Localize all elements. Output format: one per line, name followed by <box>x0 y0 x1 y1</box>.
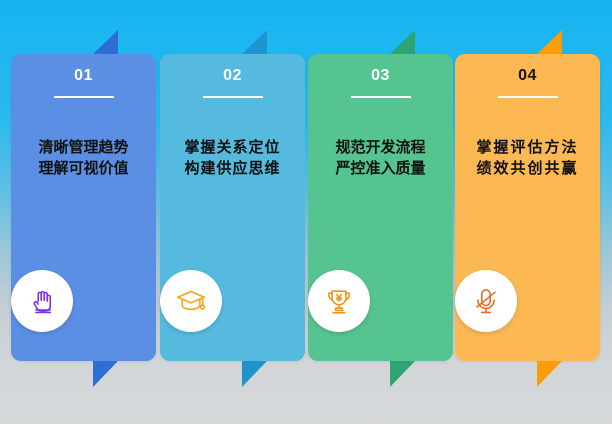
icon-bubble-03[interactable] <box>308 270 370 332</box>
card-number: 02 <box>160 68 305 84</box>
icon-bubble-01[interactable] <box>11 270 73 332</box>
ribbon-top-icon <box>242 30 267 54</box>
card-body: 清晰管理趋势 理解可视价值 <box>11 138 156 179</box>
card-divider <box>54 96 114 98</box>
card-number: 01 <box>11 68 156 84</box>
card-body-line-2: 严控准入质量 <box>308 159 453 180</box>
card-divider <box>498 96 558 98</box>
card-number: 04 <box>455 68 600 84</box>
card-body-line-1: 清晰管理趋势 <box>11 138 156 159</box>
card-body-line-1: 规范开发流程 <box>308 138 453 159</box>
card-body: 掌握关系定位 构建供应思维 <box>160 138 305 179</box>
ribbon-bottom-icon <box>390 361 415 387</box>
card-body: 规范开发流程 严控准入质量 <box>308 138 453 179</box>
card-number: 03 <box>308 68 453 84</box>
ribbon-top-icon <box>390 30 415 54</box>
card-body-line-2: 理解可视价值 <box>11 159 156 180</box>
microphone-muted-icon <box>471 286 501 316</box>
ribbon-bottom-icon <box>242 361 267 387</box>
icon-bubble-02[interactable] <box>160 270 222 332</box>
card-divider <box>351 96 411 98</box>
ribbon-bottom-icon <box>537 361 562 387</box>
ribbon-top-icon <box>537 30 562 54</box>
infographic-canvas: 01 清晰管理趋势 理解可视价值 02 掌握关系定位 构建供应思维 03 规范开… <box>0 0 612 424</box>
trophy-yen-icon <box>324 286 354 316</box>
card-body-line-2: 绩效共创共赢 <box>455 159 600 180</box>
icon-bubble-04[interactable] <box>455 270 517 332</box>
card-body-line-2: 构建供应思维 <box>160 159 305 180</box>
graduation-cap-icon <box>175 285 207 317</box>
ribbon-top-icon <box>93 30 118 54</box>
card-body: 掌握评估方法 绩效共创共赢 <box>455 138 600 179</box>
card-divider <box>203 96 263 98</box>
ribbon-bottom-icon <box>93 361 118 387</box>
card-body-line-1: 掌握关系定位 <box>160 138 305 159</box>
hand-palm-icon <box>27 286 57 316</box>
card-body-line-1: 掌握评估方法 <box>455 138 600 159</box>
